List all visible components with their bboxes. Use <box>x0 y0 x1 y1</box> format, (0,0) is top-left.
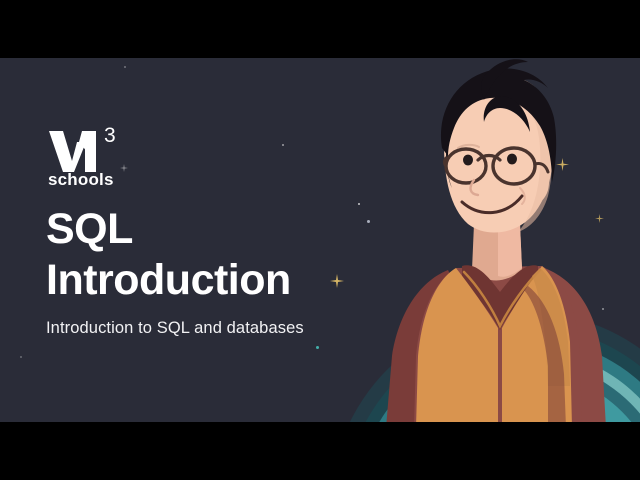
video-player-frame: 3 schools SQL Introduction Introduction … <box>0 0 640 480</box>
slide-canvas: 3 schools SQL Introduction Introduction … <box>0 58 640 422</box>
page-title: SQL Introduction <box>46 204 376 305</box>
character-illustration <box>352 58 640 422</box>
w3schools-logo[interactable]: 3 schools <box>46 120 142 186</box>
character-head <box>441 59 556 232</box>
eye-left <box>463 155 473 166</box>
star-dot <box>124 66 126 68</box>
star-dot <box>20 356 22 358</box>
page-subtitle: Introduction to SQL and databases <box>46 319 376 338</box>
slide-text-block: 3 schools SQL Introduction Introduction … <box>46 120 376 338</box>
eye-right <box>507 154 517 165</box>
logo-superscript: 3 <box>104 124 116 147</box>
logo-wordmark: schools <box>48 170 114 186</box>
letterbox-bar-bottom <box>0 422 640 480</box>
letterbox-bar-top <box>0 0 640 58</box>
w3schools-logo-mark: 3 schools <box>46 120 142 186</box>
character-torso <box>386 224 606 422</box>
